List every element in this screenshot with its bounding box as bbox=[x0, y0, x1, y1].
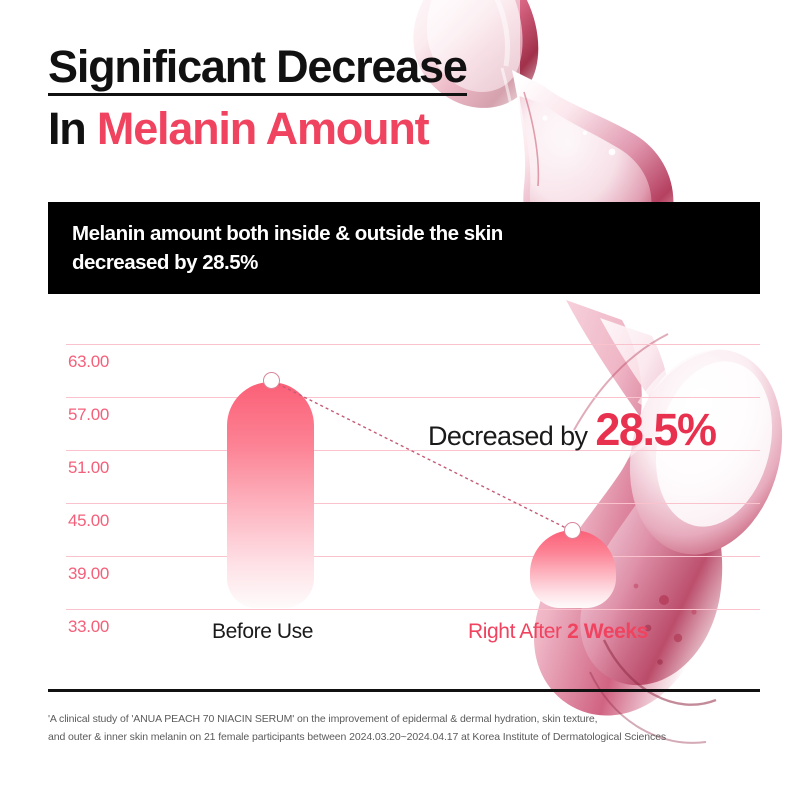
x-label-emphasis: 2 Weeks bbox=[567, 620, 648, 643]
marker-before-use bbox=[263, 372, 280, 389]
headline-line-2: In Melanin Amount bbox=[48, 106, 467, 151]
gridline-45 bbox=[66, 503, 760, 504]
bar-before-use[interactable] bbox=[227, 382, 314, 608]
infographic-page: 63.00 57.00 51.00 45.00 39.00 33.00 Befo… bbox=[0, 0, 800, 800]
summary-banner-text: Melanin amount both inside & outside the… bbox=[72, 219, 736, 277]
gridline-33 bbox=[66, 609, 760, 610]
gridline-57 bbox=[66, 397, 760, 398]
y-tick-label: 51.00 bbox=[68, 458, 109, 478]
headline-line-2-accent: Melanin Amount bbox=[97, 103, 429, 154]
x-label-right-after-2-weeks: Right After 2 Weeks bbox=[468, 620, 648, 644]
gridline-39 bbox=[66, 556, 760, 557]
headline-line-2-prefix: In bbox=[48, 103, 97, 154]
footnote-text: 'A clinical study of 'ANUA PEACH 70 NIAC… bbox=[48, 710, 766, 747]
x-label-before-use: Before Use bbox=[212, 620, 313, 644]
y-tick-label: 33.00 bbox=[68, 617, 109, 637]
decrease-callout-value: 28.5% bbox=[595, 404, 715, 455]
page-title: Significant Decrease In Melanin Amount bbox=[48, 44, 467, 151]
y-tick-label: 39.00 bbox=[68, 564, 109, 584]
summary-banner: Melanin amount both inside & outside the… bbox=[48, 202, 760, 294]
footer-divider bbox=[48, 689, 760, 692]
y-tick-label: 45.00 bbox=[68, 511, 109, 531]
marker-right-after-2-weeks bbox=[564, 522, 581, 539]
decrease-callout-label: Decreased by bbox=[428, 421, 587, 451]
x-label-prefix: Right After bbox=[468, 620, 567, 643]
decrease-callout: Decreased by28.5% bbox=[428, 404, 716, 456]
gridline-63 bbox=[66, 344, 760, 345]
y-tick-label: 63.00 bbox=[68, 352, 109, 372]
bar-right-after-2-weeks[interactable] bbox=[530, 530, 616, 608]
y-tick-label: 57.00 bbox=[68, 405, 109, 425]
headline-line-1: Significant Decrease bbox=[48, 44, 467, 96]
